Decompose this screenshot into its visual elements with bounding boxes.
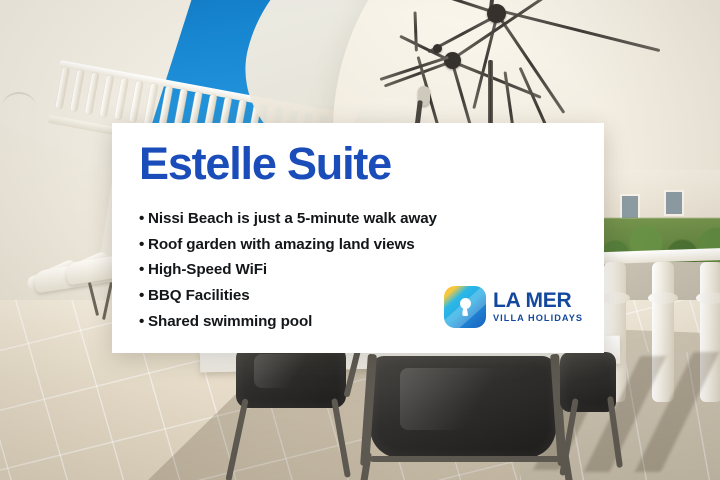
bullet-icon: • [139, 237, 148, 252]
keyhole-shape [460, 298, 471, 316]
feature-text: Shared swimming pool [148, 313, 312, 330]
info-card: Estelle Suite •Nissi Beach is just a 5-m… [112, 123, 604, 353]
patio-chair [560, 352, 690, 480]
feature-text: Roof garden with amazing land views [148, 236, 415, 253]
keyhole-icon [444, 286, 486, 328]
list-item: •Roof garden with amazing land views [139, 237, 437, 252]
list-item: •High-Speed WiFi [139, 262, 437, 277]
brand-wordmark: LA MER VILLA HOLIDAYS [493, 290, 583, 323]
feature-text: Nissi Beach is just a 5-minute walk away [148, 210, 437, 227]
feature-list: •Nissi Beach is just a 5-minute walk awa… [139, 211, 437, 340]
house-window [664, 190, 684, 216]
bullet-icon: • [139, 314, 148, 329]
feature-text: BBQ Facilities [148, 287, 250, 304]
page-title: Estelle Suite [139, 141, 391, 186]
brand-tagline: VILLA HOLIDAYS [493, 313, 583, 323]
brand-name: LA MER [493, 290, 583, 312]
chair-crossbar [370, 456, 560, 462]
chair-leg [607, 396, 623, 468]
umbrella-mast [488, 60, 493, 126]
bullet-icon: • [139, 262, 148, 277]
list-item: •Shared swimming pool [139, 314, 437, 329]
patio-chair [210, 346, 360, 476]
list-item: •Nissi Beach is just a 5-minute walk awa… [139, 211, 437, 226]
bullet-icon: • [139, 288, 148, 303]
feature-text: High-Speed WiFi [148, 261, 267, 278]
bullet-icon: • [139, 211, 148, 226]
umbrella-hub [444, 52, 461, 69]
chair-highlight [254, 354, 326, 388]
chair-leg [225, 398, 248, 480]
promo-image: Estelle Suite •Nissi Beach is just a 5-m… [0, 0, 720, 480]
house-window [620, 194, 640, 220]
brand-logo: LA MER VILLA HOLIDAYS [444, 286, 583, 328]
chair-leg [331, 398, 351, 478]
umbrella-hub [487, 4, 506, 23]
umbrella-joint [433, 44, 442, 53]
list-item: •BBQ Facilities [139, 288, 437, 303]
